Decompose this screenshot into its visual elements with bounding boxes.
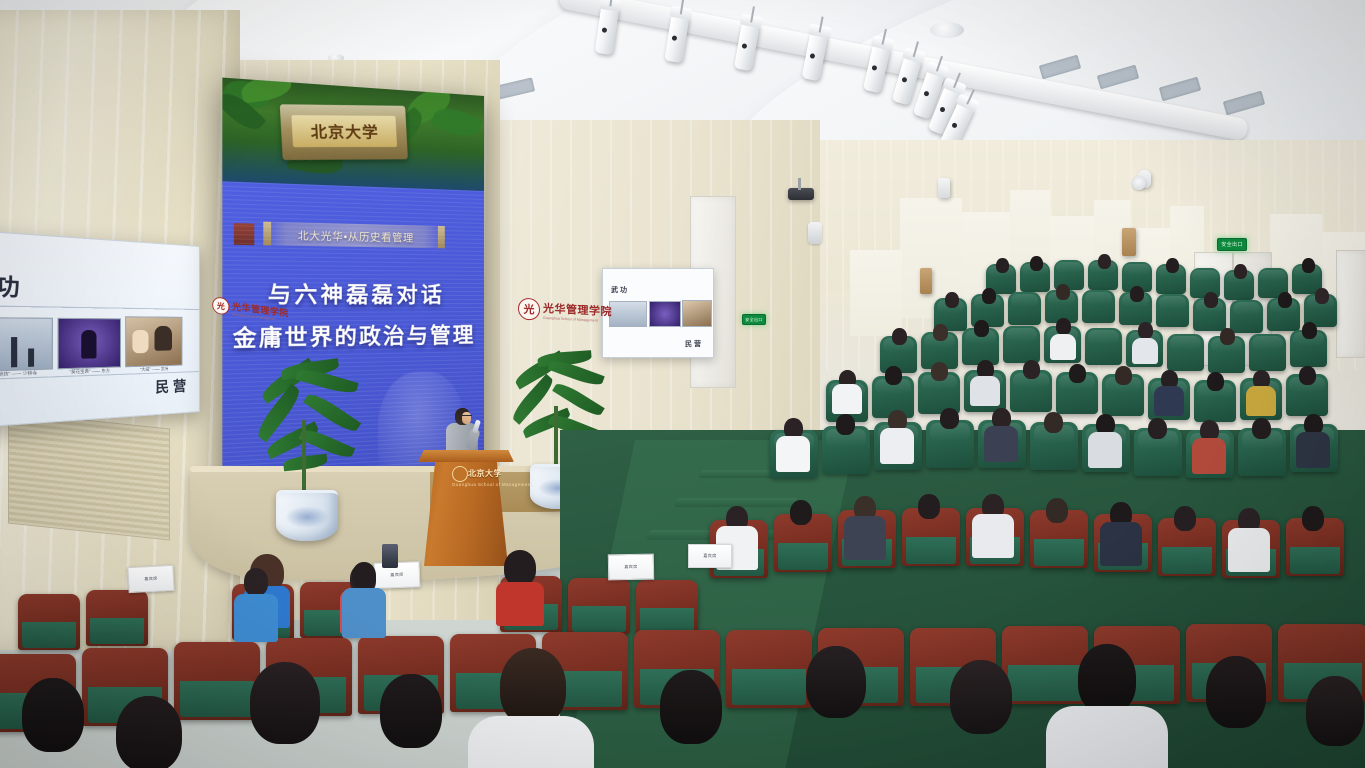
- audience-head: [352, 562, 376, 590]
- stage-spotlight: [595, 5, 620, 55]
- audience-torso: [468, 716, 594, 768]
- audience-head: [1206, 656, 1266, 728]
- auditorium-seat[interactable]: [1082, 290, 1115, 323]
- slide-image-3: [125, 316, 182, 367]
- auditorium-seat[interactable]: [1156, 294, 1189, 327]
- audience-head: [790, 500, 812, 525]
- audience-head: [940, 408, 959, 429]
- left-wall-vent: [8, 411, 170, 540]
- audience-head: [982, 288, 996, 304]
- audience-torso: [1228, 528, 1270, 572]
- screen-rule: [0, 305, 199, 310]
- audience-head: [1138, 322, 1153, 339]
- audience-head: [806, 646, 866, 718]
- audience-head: [1056, 284, 1070, 300]
- slide-image-1: [0, 317, 53, 373]
- exit-sign: 安全出口: [1217, 238, 1247, 251]
- audience-head: [1302, 322, 1317, 339]
- audience-torso: [1046, 706, 1168, 768]
- logo-seal: 光: [518, 298, 540, 321]
- exit-sign-label: 安全出口: [1221, 241, 1243, 248]
- auditorium-photo: 安全出口 安全出口 武功 "七十二绝技" —— 少林寺: [0, 0, 1365, 768]
- audience-head: [1220, 328, 1235, 345]
- audience-head: [1023, 360, 1040, 379]
- front-row-attendees: [230, 560, 430, 670]
- guest-placard: 嘉宾席: [688, 544, 732, 568]
- audience-head: [1207, 372, 1224, 391]
- audience-head: [504, 550, 536, 586]
- university-emblem: [452, 466, 468, 482]
- wall-speaker: [1122, 228, 1136, 256]
- audience-head: [1278, 292, 1292, 308]
- audience-head: [1204, 292, 1218, 308]
- potted-palm-left: [258, 360, 358, 560]
- auditorium-seat[interactable]: [1167, 334, 1204, 371]
- audience-torso: [1246, 386, 1276, 416]
- university-gate: 北京大学: [280, 104, 408, 160]
- audience-head: [1302, 506, 1324, 531]
- porcelain-pot: [276, 490, 338, 541]
- audience-head: [244, 568, 268, 596]
- foreground-audience: [0, 600, 1365, 768]
- audience-head: [1130, 286, 1144, 302]
- monitor-image-1: [609, 301, 647, 327]
- auditorium-seat[interactable]: [1003, 326, 1040, 363]
- monitor-footer: 民营: [685, 339, 703, 349]
- left-projection-screen: 武功 "七十二绝技" —— 少林寺 "葵花宝典" —— 东方 "大威" —— 武…: [0, 229, 200, 428]
- audience-head: [1098, 254, 1111, 269]
- left-screen-title: 武功: [0, 266, 27, 302]
- stage-spotlight: [863, 43, 891, 94]
- left-screen-footer: 民营: [155, 375, 189, 397]
- monitor-title: 武功: [611, 285, 629, 295]
- audience-torso: [234, 594, 278, 642]
- auditorium-seat[interactable]: [1008, 292, 1041, 325]
- audience-head: [1174, 506, 1196, 531]
- monitor-image-2: [649, 301, 681, 327]
- stage-spotlight: [734, 21, 760, 71]
- audience-head: [885, 366, 902, 385]
- stage-spotlight: [802, 31, 829, 82]
- audience-head: [1069, 364, 1086, 383]
- lectern-name-cn: 北京大学: [468, 468, 502, 479]
- auditorium-seat[interactable]: [1230, 300, 1263, 333]
- audience-head: [1299, 366, 1316, 385]
- audience-head: [1115, 366, 1132, 385]
- audience-torso: [844, 516, 886, 560]
- lectern-top: [418, 450, 514, 462]
- slide-image-2: [58, 318, 121, 370]
- audience-head: [250, 662, 320, 744]
- speaker-glasses: [462, 415, 472, 419]
- projector-arm: [798, 178, 801, 190]
- guest-placard: 嘉宾席: [127, 565, 174, 593]
- wall-speaker: [1132, 176, 1146, 190]
- audience-head: [1056, 318, 1071, 335]
- campus-gate-photo: 北京大学: [222, 78, 484, 191]
- gate-plaque: 北京大学: [291, 115, 397, 147]
- audience-torso: [342, 588, 386, 638]
- audience-head: [996, 258, 1009, 273]
- audience-head: [931, 362, 948, 381]
- audience-torso: [972, 514, 1014, 558]
- audience-head: [22, 678, 84, 752]
- audience-head: [933, 324, 948, 341]
- wall-speaker: [938, 178, 950, 198]
- audience-head: [116, 696, 182, 768]
- wall-speaker: [808, 222, 822, 244]
- logo-seal: 光: [212, 296, 229, 315]
- audience-head: [1030, 256, 1043, 271]
- audience-torso: [1100, 522, 1142, 566]
- stage-spotlight: [664, 13, 689, 63]
- audience-head: [1078, 644, 1136, 714]
- audience-torso: [1132, 338, 1158, 364]
- audience-head: [950, 660, 1012, 734]
- audience-torso: [832, 384, 862, 414]
- audience-head: [500, 648, 566, 726]
- audience-torso: [1154, 386, 1184, 416]
- audience-head: [660, 670, 722, 744]
- audience-head: [918, 494, 940, 519]
- audience-head: [380, 674, 442, 748]
- monitor-image-3: [682, 300, 712, 327]
- audience-torso: [970, 376, 1000, 406]
- audience-head: [1302, 258, 1315, 273]
- auditorium-seat[interactable]: [1085, 328, 1122, 365]
- audience-head: [1166, 258, 1179, 273]
- guest-placard: 嘉宾席: [608, 554, 654, 581]
- audience-torso: [1050, 334, 1076, 360]
- auditorium-seat[interactable]: [1249, 334, 1286, 371]
- projector-mount: [788, 188, 814, 200]
- lectern-name-en: Guanghua School of Management: [452, 482, 532, 487]
- audience-head: [974, 320, 989, 337]
- audience-head: [1315, 288, 1329, 304]
- audience-head: [945, 292, 959, 308]
- audience-head: [1234, 264, 1247, 279]
- secondary-monitor: 武功 民营: [602, 268, 714, 358]
- audience-head: [892, 328, 907, 345]
- audience-head: [1306, 676, 1364, 746]
- audience-head: [1046, 498, 1068, 523]
